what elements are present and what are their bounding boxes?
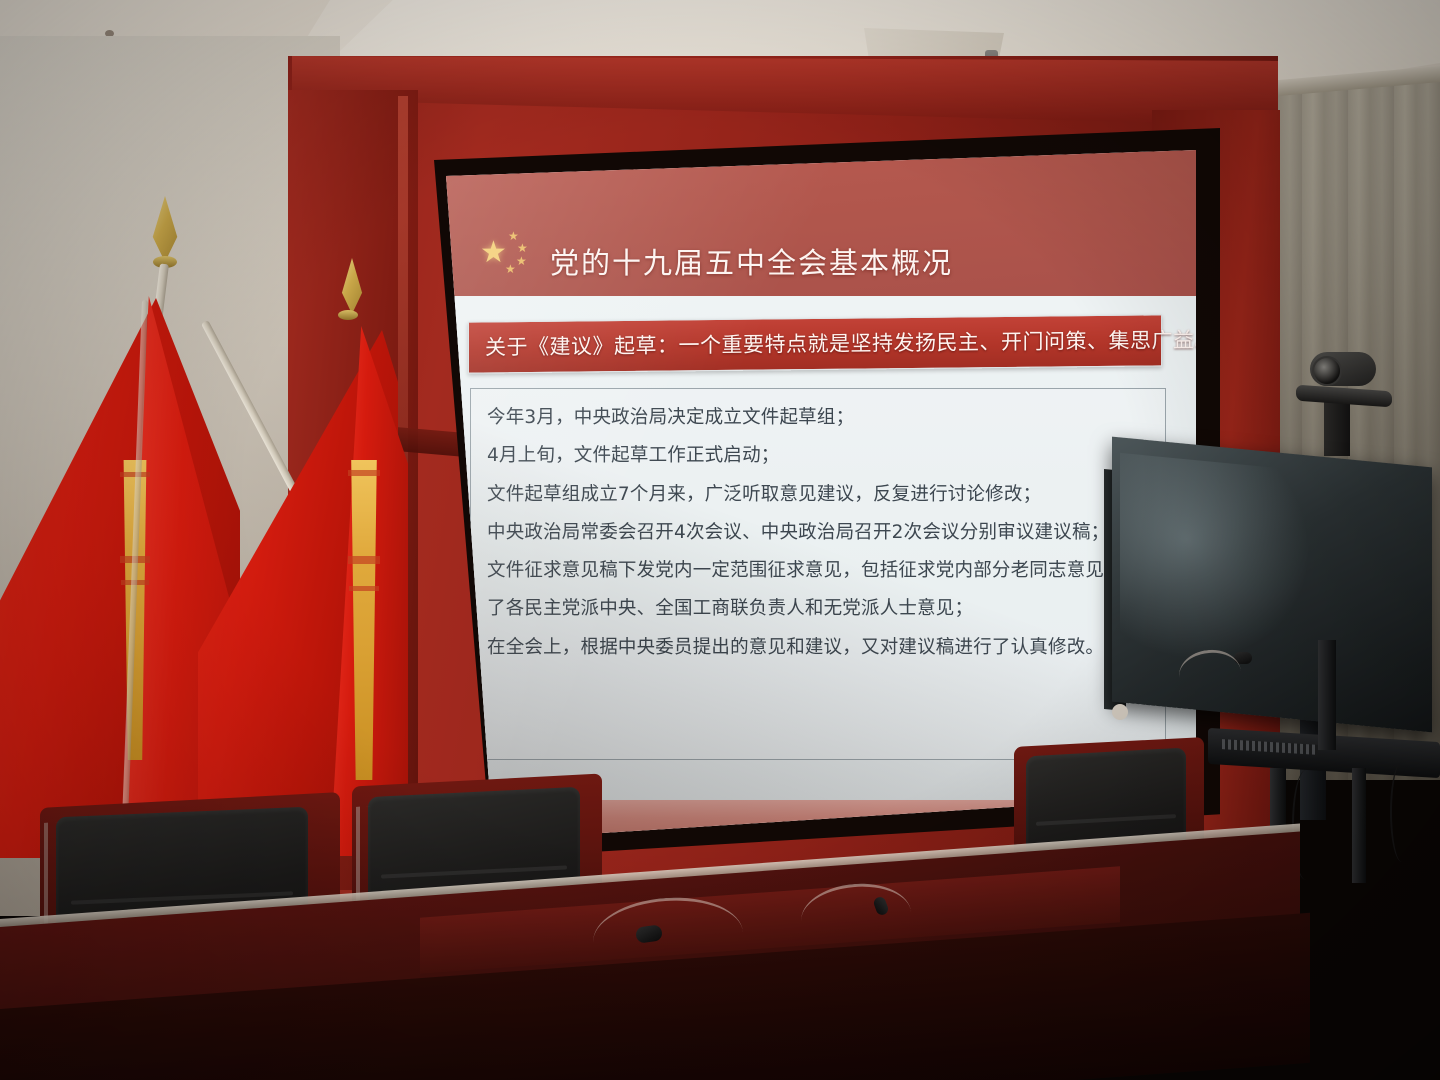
five-star-big: ★: [480, 238, 507, 268]
five-star-small: ★: [505, 263, 516, 275]
tassel-band: [348, 556, 380, 564]
monitor-screen-glow: [1120, 453, 1310, 671]
five-star-icon: ★ ★ ★ ★ ★: [480, 230, 536, 274]
slide-title: 党的十九届五中全会基本概况: [550, 249, 953, 278]
screen-edge-knob: [1112, 704, 1128, 720]
chair-crease: [381, 865, 568, 878]
tassel-band: [348, 470, 380, 476]
slide-body-line: 了各民主党派中央、全国工商联负责人和无党派人士意见；: [487, 598, 1155, 619]
camera-lens-icon: [1312, 356, 1342, 386]
finial-base: [338, 310, 358, 320]
equipment-cable: [1390, 762, 1414, 862]
slide-body-line: 文件起草组成立7个月来，广泛听取意见建议，反复进行讨论修改；: [487, 484, 1155, 505]
camera-mount-neck: [1324, 402, 1350, 456]
five-star-small: ★: [517, 242, 528, 254]
five-star-small: ★: [516, 255, 527, 267]
slide-body-line: 文件征求意见稿下发党内一定范围征求意见，包括征求党内部分老同志意见，还专门听取: [487, 560, 1155, 581]
slide-body: 关于《建议》起草：一个重要特点就是坚持发扬民主、开门问策、集思广益。 今年3月，…: [436, 296, 1196, 800]
slide-body-line: 中央政治局常委会召开4次会议、中央政治局召开2次会议分别审议建议稿；: [487, 522, 1155, 543]
chair-crease: [1036, 814, 1177, 826]
equipment-stand-column: [1318, 640, 1336, 750]
presentation-slide: ★ ★ ★ ★ ★ 党的十九届五中全会基本概况 关于《建议》起草：一个重要特点就…: [436, 150, 1196, 840]
slide-body-line: 4月上旬，文件起草工作正式启动；: [487, 445, 1155, 466]
equipment-stand-leg: [1352, 768, 1366, 883]
conference-room-scene: ★ ★ ★ ★ ★ 党的十九届五中全会基本概况 关于《建议》起草：一个重要特点就…: [0, 0, 1440, 1080]
projection-screen: ★ ★ ★ ★ ★ 党的十九届五中全会基本概况 关于《建议》起草：一个重要特点就…: [436, 150, 1196, 840]
slide-body-line: 在全会上，根据中央委员提出的意见和建议，又对建议稿进行了认真修改。: [487, 637, 1155, 658]
tassel-band: [349, 586, 379, 591]
slide-banner: 关于《建议》起草：一个重要特点就是坚持发扬民主、开门问策、集思广益。: [468, 314, 1162, 373]
slide-body-line: 今年3月，中央政治局决定成立文件起草组；: [487, 407, 1155, 428]
slide-textbox: 今年3月，中央政治局决定成立文件起草组； 4月上旬，文件起草工作正式启动； 文件…: [470, 388, 1166, 760]
